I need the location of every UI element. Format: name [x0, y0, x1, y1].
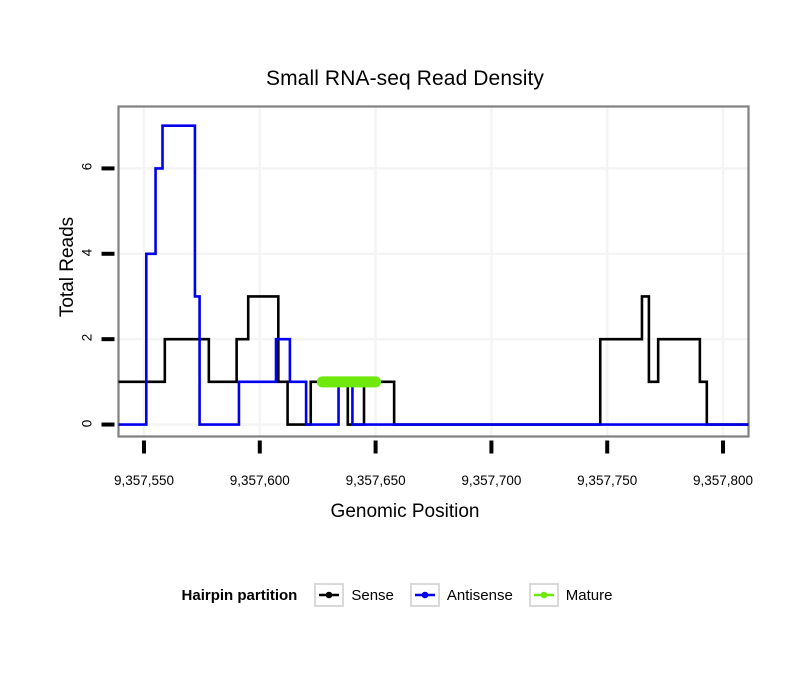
series-line-antisense: [119, 126, 749, 425]
y-tick-label: 4: [80, 237, 95, 267]
y-tick-label: 0: [80, 408, 95, 438]
x-tick-label: 9,357,650: [321, 473, 431, 488]
x-tick-label: 9,357,550: [89, 473, 199, 488]
legend-item-sense[interactable]: Sense: [314, 583, 394, 607]
x-tick-label: 9,357,800: [668, 473, 778, 488]
legend-label: Sense: [351, 587, 394, 604]
x-tick-label: 9,357,600: [205, 473, 315, 488]
grid-lines: [119, 107, 749, 437]
chart-legend: Hairpin partition SenseAntisenseMature: [0, 583, 810, 607]
legend-item-mature[interactable]: Mature: [529, 583, 613, 607]
series-line-sense: [119, 296, 749, 424]
legend-key-icon: [529, 583, 559, 607]
x-tick-label: 9,357,700: [436, 473, 546, 488]
y-tick-label: 2: [80, 323, 95, 353]
legend-item-antisense[interactable]: Antisense: [410, 583, 513, 607]
legend-key-icon: [314, 583, 344, 607]
x-tick-label: 9,357,750: [552, 473, 662, 488]
legend-title: Hairpin partition: [182, 587, 298, 604]
chart-figure: Small RNA-seq Read Density Total Reads G…: [0, 0, 810, 690]
data-series: [119, 126, 749, 425]
y-tick-label: 6: [80, 152, 95, 182]
panel-border: [119, 107, 749, 437]
legend-key-icon: [410, 583, 440, 607]
legend-label: Antisense: [447, 587, 513, 604]
legend-label: Mature: [566, 587, 613, 604]
